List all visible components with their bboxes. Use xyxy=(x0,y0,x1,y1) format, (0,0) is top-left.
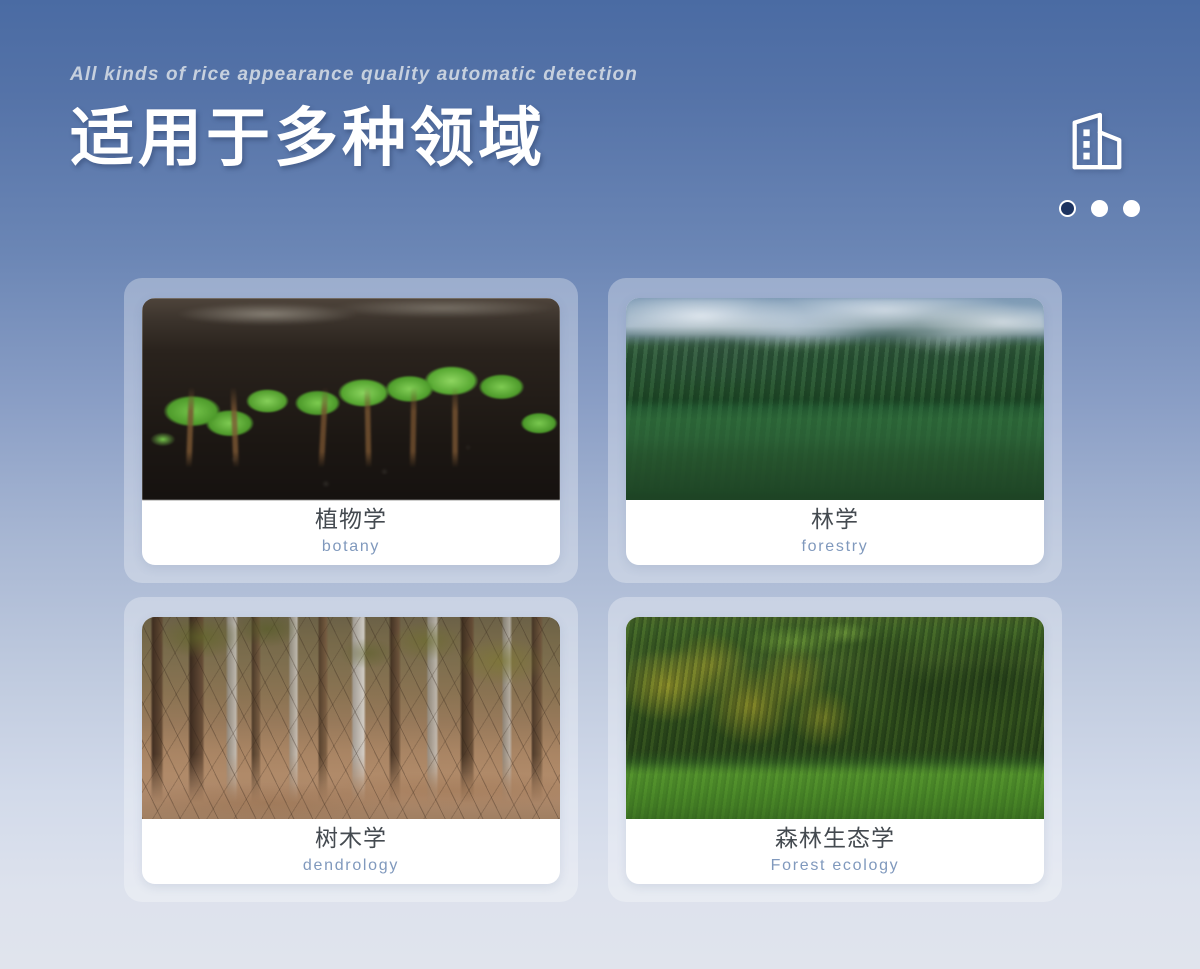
card-title-en: forestry xyxy=(802,537,869,556)
domain-card-forestry[interactable]: 林学 forestry xyxy=(626,298,1044,565)
card-title-cn: 林学 xyxy=(811,505,859,534)
domain-card-forest-ecology[interactable]: 森林生态学 Forest ecology xyxy=(626,617,1044,884)
seedlings-in-dark-soil-photo xyxy=(142,298,560,500)
card-title-en: botany xyxy=(322,537,380,556)
domain-card-grid: 植物学 botany 林学 forestry 树木学 dendrology xyxy=(124,278,1062,902)
card-frame: 树木学 dendrology xyxy=(124,597,578,902)
bare-tree-trunks-forest-photo xyxy=(142,617,560,819)
card-frame: 森林生态学 Forest ecology xyxy=(608,597,1062,902)
card-title-cn: 树木学 xyxy=(315,824,387,853)
carousel-pagination[interactable] xyxy=(1059,200,1140,217)
card-caption: 树木学 dendrology xyxy=(142,819,560,884)
pagination-dot-3[interactable] xyxy=(1123,200,1140,217)
forested-mountain-lake-photo xyxy=(626,298,1044,500)
card-caption: 林学 forestry xyxy=(626,500,1044,565)
domain-card-botany[interactable]: 植物学 botany xyxy=(142,298,560,565)
page-title: 适用于多种领域 xyxy=(70,103,1130,173)
card-frame: 林学 forestry xyxy=(608,278,1062,583)
card-title-en: dendrology xyxy=(303,856,399,875)
card-title-cn: 植物学 xyxy=(315,505,387,534)
card-title-en: Forest ecology xyxy=(771,856,900,875)
pagination-dot-1[interactable] xyxy=(1059,200,1076,217)
autumn-treeline-meadow-photo xyxy=(626,617,1044,819)
card-caption: 植物学 botany xyxy=(142,500,560,565)
card-frame: 植物学 botany xyxy=(124,278,578,583)
card-title-cn: 森林生态学 xyxy=(775,824,895,853)
card-caption: 森林生态学 Forest ecology xyxy=(626,819,1044,884)
building-icon xyxy=(1065,111,1127,173)
page-subtitle: All kinds of rice appearance quality aut… xyxy=(70,62,1130,89)
domain-card-dendrology[interactable]: 树木学 dendrology xyxy=(142,617,560,884)
pagination-dot-2[interactable] xyxy=(1091,200,1108,217)
page-header: All kinds of rice appearance quality aut… xyxy=(70,62,1130,173)
